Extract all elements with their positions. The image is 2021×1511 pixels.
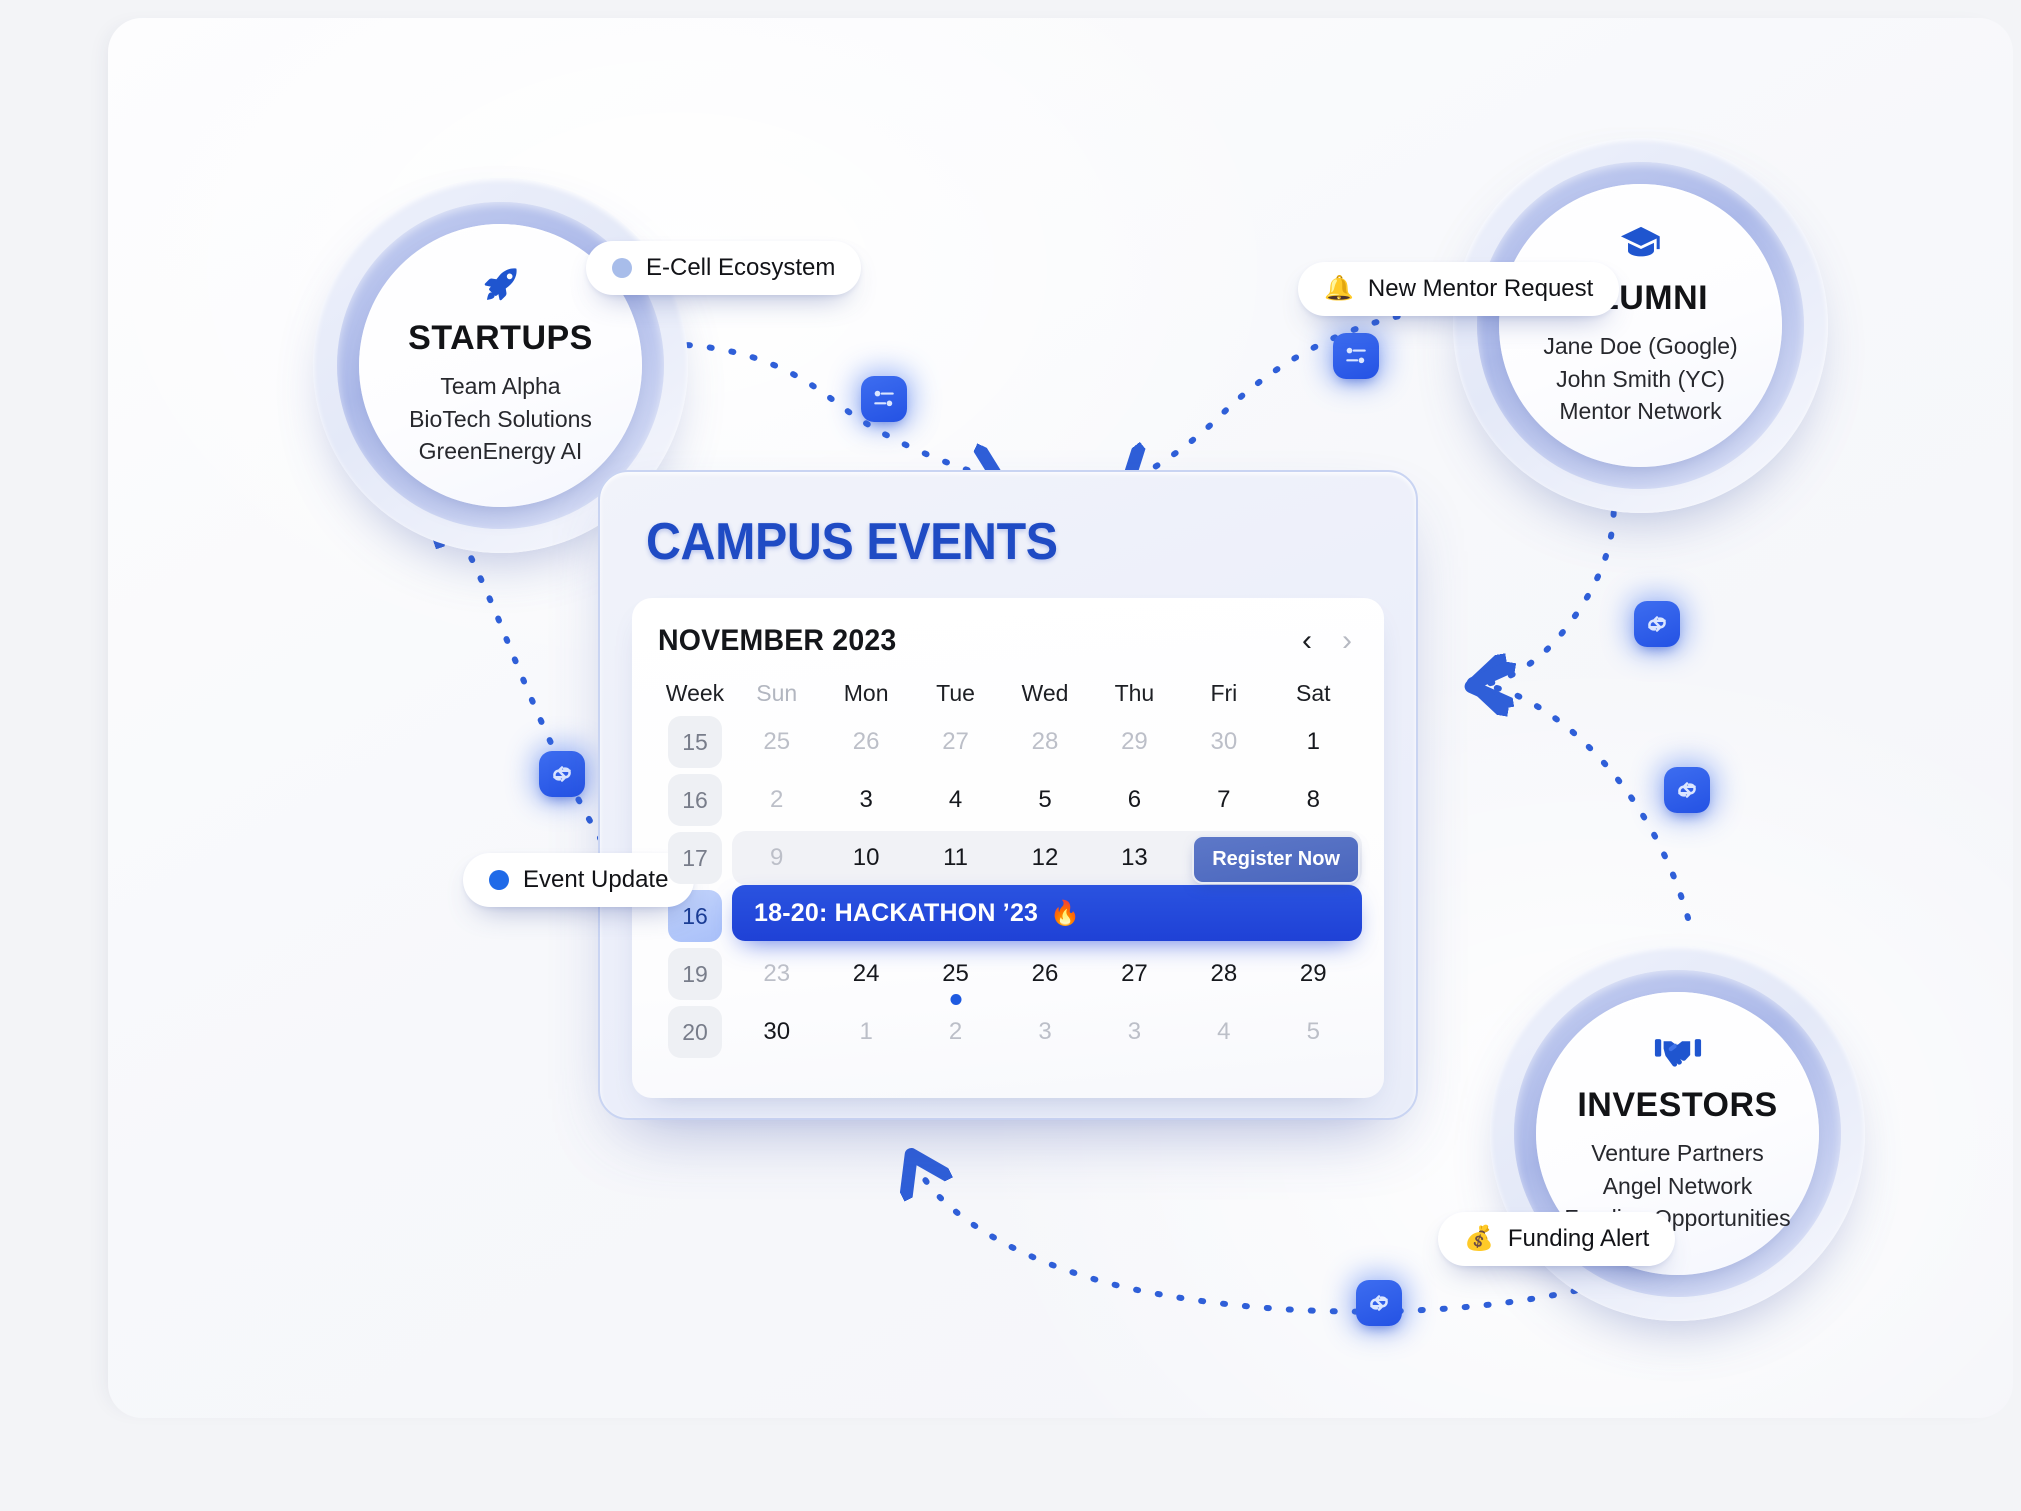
calendar-nav: ‹ › <box>1302 626 1358 656</box>
col-header-mon: Mon <box>821 680 910 707</box>
calendar-day-cell[interactable]: 27 <box>911 728 1000 756</box>
calendar-week-row: 1618-20: HACKATHON ’23🔥 <box>658 887 1358 945</box>
col-header-fri: Fri <box>1179 680 1268 707</box>
calendar-header: NOVEMBER 2023 ‹ › <box>658 624 1358 658</box>
sync-exchange-icon[interactable] <box>1664 767 1710 813</box>
ecosystem-canvas: STARTUPS Team Alpha BioTech Solutions Gr… <box>108 18 2013 1418</box>
calendar-day-cell[interactable]: 4 <box>911 786 1000 814</box>
calendar-day-cell[interactable]: 3 <box>1090 1018 1179 1046</box>
hub-line: Jane Doe (Google) <box>1543 330 1737 363</box>
bell-icon: 🔔 <box>1324 277 1354 301</box>
hub-line: BioTech Solutions <box>409 403 592 436</box>
pill-new-mentor-request[interactable]: 🔔 New Mentor Request <box>1298 262 1619 316</box>
calendar-month-label: NOVEMBER 2023 <box>658 624 896 658</box>
col-header-sat: Sat <box>1269 680 1358 707</box>
pill-ecell-ecosystem[interactable]: E-Cell Ecosystem <box>586 241 861 295</box>
status-dot-icon <box>612 258 632 278</box>
graduation-cap-icon <box>1618 223 1664 269</box>
calendar-day-cell[interactable]: 24 <box>821 960 910 988</box>
event-marker-dot <box>950 994 961 1005</box>
calendar-week-row: 17910111213Register Now <box>658 829 1358 887</box>
calendar-day-cell[interactable]: 23 <box>732 960 821 988</box>
pill-label: Event Update <box>523 866 668 894</box>
calendar-day-cell[interactable]: 1 <box>1269 728 1358 756</box>
col-header-thu: Thu <box>1090 680 1179 707</box>
calendar-day-cell[interactable]: 10 <box>821 844 910 872</box>
hackathon-event-banner[interactable]: 18-20: HACKATHON ’23🔥 <box>732 885 1362 941</box>
calendar-day-cell[interactable]: 6 <box>1090 786 1179 814</box>
rocket-icon <box>480 263 522 309</box>
sync-exchange-icon[interactable] <box>539 751 585 797</box>
calendar-day-cell[interactable]: 2 <box>732 786 821 814</box>
status-dot-icon <box>489 870 509 890</box>
share-network-icon[interactable] <box>861 376 907 422</box>
hub-line: Mentor Network <box>1559 395 1721 428</box>
campus-events-card: CAMPUS EVENTS NOVEMBER 2023 ‹ › Week Sun… <box>598 470 1418 1120</box>
calendar-day-cell[interactable]: 26 <box>821 728 910 756</box>
hub-line: John Smith (YC) <box>1556 363 1725 396</box>
sync-exchange-icon[interactable] <box>1634 601 1680 647</box>
calendar-day-cell[interactable]: 5 <box>1269 1018 1358 1046</box>
hub-title: STARTUPS <box>408 319 593 358</box>
hub-core: ALUMNI Jane Doe (Google) John Smith (YC)… <box>1499 184 1782 467</box>
calendar-day-cell[interactable]: 2 <box>911 1018 1000 1046</box>
calendar-day-cell[interactable]: 30 <box>1179 728 1268 756</box>
calendar-day-cell[interactable]: 7 <box>1179 786 1268 814</box>
calendar-day-cell[interactable]: 27 <box>1090 960 1179 988</box>
money-bag-icon: 💰 <box>1464 1227 1494 1251</box>
hub-title: INVESTORS <box>1577 1086 1777 1125</box>
calendar-week-row: 2030123345 <box>658 1003 1358 1061</box>
week-number: 16 <box>668 774 722 826</box>
share-network-icon[interactable] <box>1333 333 1379 379</box>
hub-alumni[interactable]: ALUMNI Jane Doe (Google) John Smith (YC)… <box>1453 138 1828 513</box>
calendar-day-headers: Week Sun Mon Tue Wed Thu Fri Sat <box>658 680 1358 707</box>
sync-exchange-icon[interactable] <box>1356 1280 1402 1326</box>
calendar-day-cell[interactable]: 4 <box>1179 1018 1268 1046</box>
calendar-day-cell[interactable]: 5 <box>1000 786 1089 814</box>
calendar-day-cell[interactable]: 13 <box>1090 844 1179 872</box>
fire-icon: 🔥 <box>1050 899 1080 928</box>
hub-line: Venture Partners <box>1591 1137 1764 1170</box>
week-number: 15 <box>668 716 722 768</box>
calendar-day-cell[interactable]: 3 <box>1000 1018 1089 1046</box>
calendar-day-cell[interactable]: 11 <box>911 844 1000 872</box>
calendar-day-cell[interactable]: 25 <box>911 960 1000 988</box>
col-header-wed: Wed <box>1000 680 1089 707</box>
calendar-body: 15252627282930116234567817910111213Regis… <box>658 713 1358 1061</box>
calendar-week-row: 1923242526272829 <box>658 945 1358 1003</box>
pill-label: E-Cell Ecosystem <box>646 254 835 282</box>
calendar-day-cell[interactable]: 26 <box>1000 960 1089 988</box>
col-header-week: Week <box>658 680 732 707</box>
calendar-day-cell[interactable]: 28 <box>1179 960 1268 988</box>
week-number: 17 <box>668 832 722 884</box>
week-number: 19 <box>668 948 722 1000</box>
calendar-widget: NOVEMBER 2023 ‹ › Week Sun Mon Tue Wed T… <box>632 598 1384 1098</box>
hackathon-banner-label: 18-20: HACKATHON ’23 <box>754 899 1038 928</box>
calendar-day-cell[interactable]: 25 <box>732 728 821 756</box>
week-number: 20 <box>668 1006 722 1058</box>
calendar-day-cell[interactable]: 29 <box>1090 728 1179 756</box>
calendar-day-cell[interactable]: 9 <box>732 844 821 872</box>
pill-label: New Mentor Request <box>1368 275 1593 303</box>
pill-event-update[interactable]: Event Update <box>463 853 694 907</box>
calendar-day-cell[interactable]: 3 <box>821 786 910 814</box>
register-now-button[interactable]: Register Now <box>1192 835 1360 884</box>
calendar-week-row: 162345678 <box>658 771 1358 829</box>
chevron-right-icon[interactable]: › <box>1342 626 1352 656</box>
calendar-week-row: 152526272829301 <box>658 713 1358 771</box>
calendar-day-cell[interactable]: 1 <box>821 1018 910 1046</box>
page-title: CAMPUS EVENTS <box>646 512 1332 572</box>
col-header-tue: Tue <box>911 680 1000 707</box>
calendar-day-cell[interactable]: 12 <box>1000 844 1089 872</box>
hub-line: GreenEnergy AI <box>419 435 583 468</box>
calendar-day-cell[interactable]: 29 <box>1269 960 1358 988</box>
pill-label: Funding Alert <box>1508 1225 1649 1253</box>
col-header-sun: Sun <box>732 680 821 707</box>
handshake-icon <box>1654 1032 1702 1076</box>
pill-funding-alert[interactable]: 💰 Funding Alert <box>1438 1212 1675 1266</box>
calendar-day-cell[interactable]: 30 <box>732 1018 821 1046</box>
hub-line: Angel Network <box>1603 1170 1753 1203</box>
hub-line: Team Alpha <box>440 370 560 403</box>
calendar-day-cell[interactable]: 28 <box>1000 728 1089 756</box>
chevron-left-icon[interactable]: ‹ <box>1302 626 1312 656</box>
calendar-day-cell[interactable]: 8 <box>1269 786 1358 814</box>
